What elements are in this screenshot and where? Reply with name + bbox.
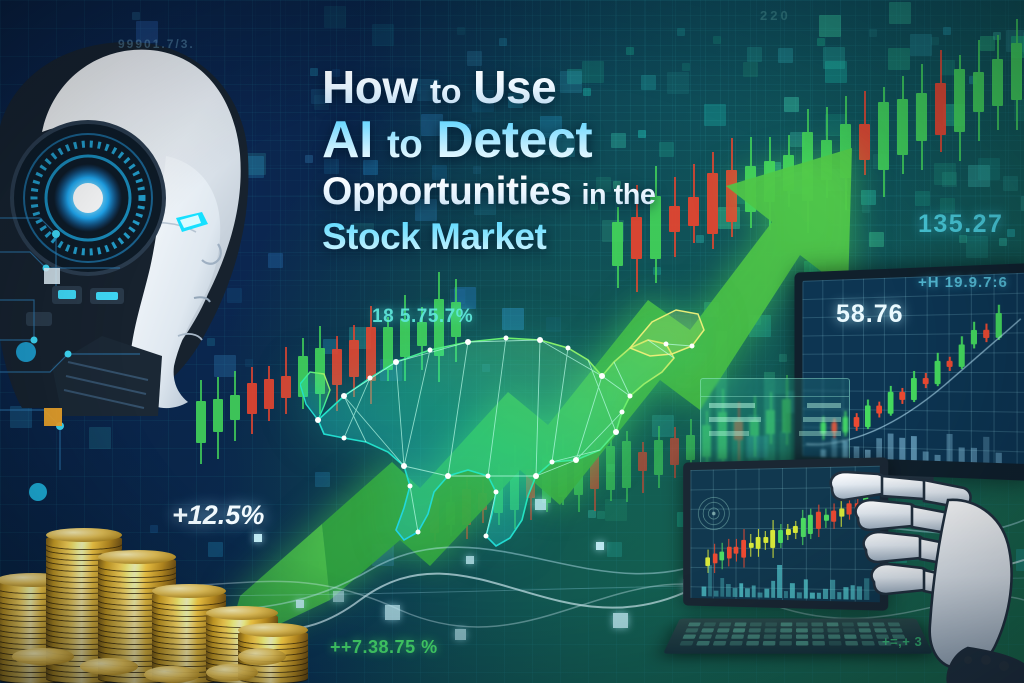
- hero-banner: How to Use AI to Detect Opportunities in…: [0, 0, 1024, 683]
- vignette: [0, 0, 1024, 683]
